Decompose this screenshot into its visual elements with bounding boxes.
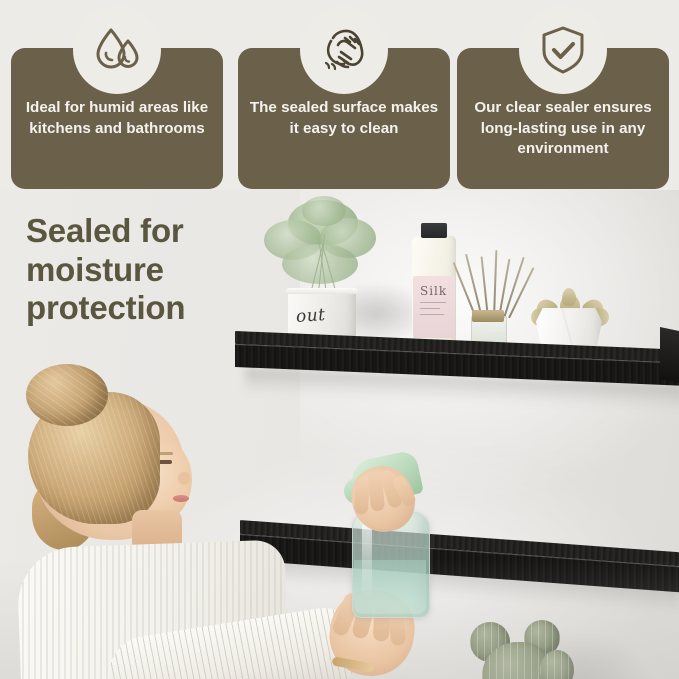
diffuser-collar (472, 310, 504, 322)
hand-wiping-cloth-icon (300, 6, 388, 94)
bottle-label: Silk (413, 276, 455, 338)
feature-card-humid: Ideal for humid areas like kitchens and … (11, 48, 223, 189)
feature-card-text: Ideal for humid areas like kitchens and … (21, 98, 213, 139)
spray-highlight (362, 522, 372, 598)
feature-cards: Ideal for humid areas like kitchens and … (0, 0, 679, 190)
lips (173, 495, 189, 502)
eye (158, 460, 172, 464)
bottle-cap (421, 223, 447, 238)
water-drops-icon (73, 6, 161, 94)
shield-check-icon (519, 6, 607, 94)
feature-card-text: Our clear sealer ensures long-lasting us… (467, 98, 659, 160)
bottle-label-text: Silk (420, 284, 447, 298)
product-infographic: out Silk (0, 0, 679, 679)
feature-card-easy-clean: The sealed surface makes it easy to clea… (238, 48, 450, 189)
page-title: Sealed for moisture protection (26, 212, 266, 328)
nose (178, 472, 190, 485)
upper-shelf-end-cap (660, 327, 679, 383)
hair-bun (26, 364, 108, 426)
planter-script-text: out (295, 305, 326, 327)
feature-card-text: The sealed surface makes it easy to clea… (248, 98, 440, 139)
planter-rim (286, 288, 358, 294)
feature-card-sealer: Our clear sealer ensures long-lasting us… (457, 48, 669, 189)
white-planter: out (288, 288, 356, 340)
